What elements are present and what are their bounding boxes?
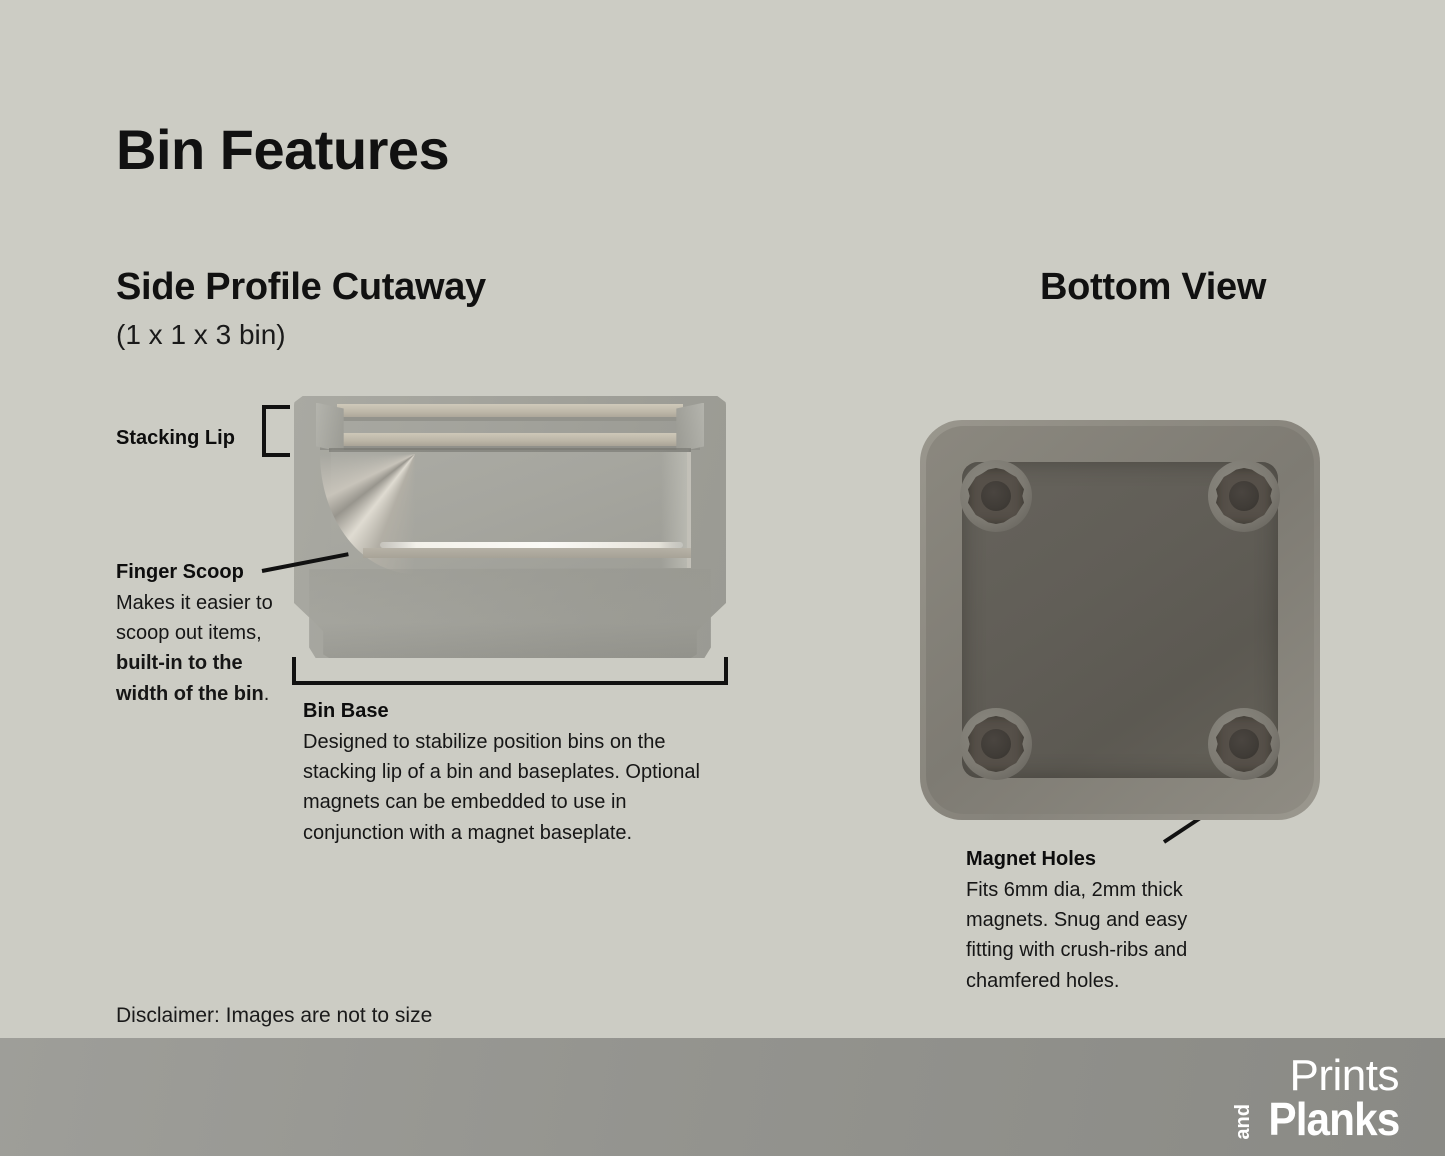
cavity-floor-shadow	[363, 548, 691, 558]
section-heading-bottom-view: Bottom View	[1040, 268, 1266, 306]
cavity-top-edge	[329, 448, 692, 451]
callout-heading: Bin Base	[303, 697, 707, 727]
callout-heading: Stacking Lip	[116, 424, 235, 454]
callout-body-emphasis: built-in to the width of the bin	[116, 652, 264, 704]
logo-second-line: and Planks	[1233, 1096, 1399, 1142]
logo-text-prints: Prints	[1290, 1054, 1399, 1098]
stacking-lip-bracket	[262, 405, 290, 457]
magnet-hole-bore	[1229, 481, 1259, 511]
callout-heading: Finger Scoop	[116, 558, 292, 588]
callout-body: Designed to stabilize position bins on t…	[303, 727, 707, 849]
logo-text-planks: Planks	[1268, 1096, 1399, 1142]
brand-logo: Prints and Planks	[1219, 1054, 1399, 1142]
stacking-lip-band-upper	[337, 404, 683, 418]
infographic-page: Bin Features Side Profile Cutaway (1 x 1…	[0, 0, 1445, 1156]
side-profile-cutaway-render	[294, 396, 726, 658]
bottom-view-render	[920, 420, 1320, 820]
magnet-hole-bore	[981, 481, 1011, 511]
logo-text-and: and	[1233, 1104, 1253, 1140]
callout-body-pre: Makes it easier to scoop out items,	[116, 592, 273, 644]
section-subheading-bin-size: (1 x 1 x 3 bin)	[116, 318, 286, 352]
magnet-hole-bottom-left	[960, 708, 1032, 780]
magnet-hole-bore	[981, 729, 1011, 759]
callout-heading: Magnet Holes	[966, 845, 1226, 875]
disclaimer-text: Disclaimer: Images are not to size	[116, 1004, 432, 1028]
callout-bin-base: Bin Base Designed to stabilize position …	[303, 697, 707, 848]
callout-finger-scoop: Finger Scoop Makes it easier to scoop ou…	[116, 558, 292, 709]
callout-body: Fits 6mm dia, 2mm thick magnets. Snug an…	[966, 875, 1226, 997]
magnet-hole-bottom-right	[1208, 708, 1280, 780]
callout-body: Makes it easier to scoop out items, buil…	[116, 588, 292, 710]
magnet-hole-top-right	[1208, 460, 1280, 532]
stacking-lip-edge-upper	[333, 417, 687, 421]
bracket-stem	[292, 681, 728, 685]
bin-base-bracket	[292, 657, 728, 685]
bracket-arm-bottom	[262, 453, 290, 457]
cavity-floor-highlight	[380, 542, 682, 548]
callout-magnet-holes: Magnet Holes Fits 6mm dia, 2mm thick mag…	[966, 845, 1226, 996]
bracket-stem	[262, 405, 266, 457]
callout-stacking-lip: Stacking Lip	[116, 424, 235, 454]
magnet-hole-top-left	[960, 460, 1032, 532]
bin-base-shading	[309, 569, 711, 658]
lip-notch-right	[676, 403, 704, 453]
page-title: Bin Features	[116, 122, 449, 178]
bracket-arm-top	[262, 405, 290, 409]
stacking-lip-band-lower	[324, 433, 696, 446]
magnet-hole-bore	[1229, 729, 1259, 759]
section-heading-side-profile: Side Profile Cutaway	[116, 268, 486, 306]
footer-bar: Prints and Planks	[0, 1038, 1445, 1156]
callout-body-post: .	[264, 683, 270, 705]
lip-notch-left	[316, 403, 344, 453]
